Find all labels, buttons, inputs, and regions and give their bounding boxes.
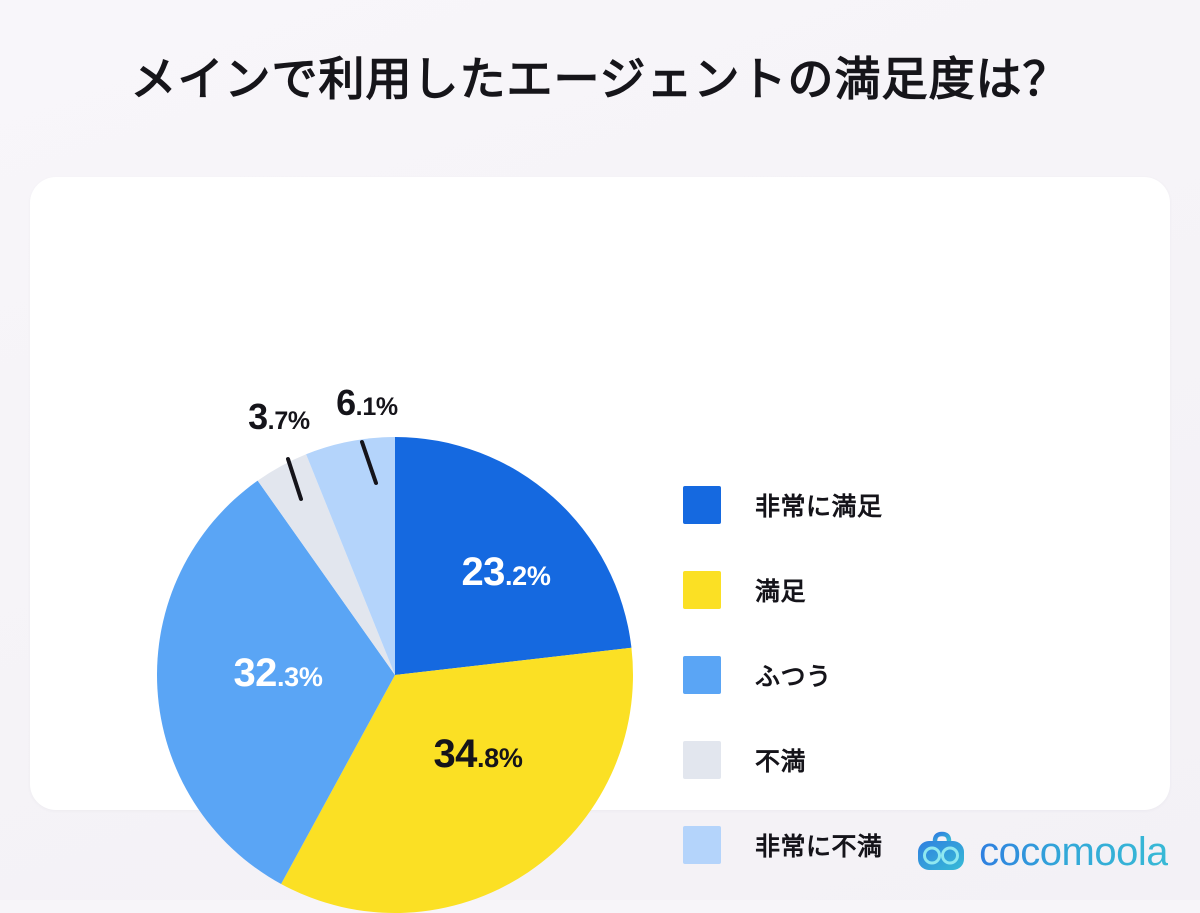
legend-label-futsuu: ふつう xyxy=(755,657,832,693)
pie-chart xyxy=(157,437,633,913)
legend-label-hijou-ni-fuman: 非常に不満 xyxy=(755,827,883,863)
legend-swatch-fuman xyxy=(683,741,721,779)
legend-item-fuman[interactable]: 不満 xyxy=(683,740,1103,780)
legend-swatch-futsuu xyxy=(683,656,721,694)
slice-label-fuman: 3.7% xyxy=(248,399,310,435)
legend-item-hijou-ni-manzoku[interactable]: 非常に満足 xyxy=(683,485,1103,525)
legend-label-fuman: 不満 xyxy=(755,742,806,778)
legend-label-hijou-ni-manzoku: 非常に満足 xyxy=(755,487,883,523)
legend-label-manzoku: 満足 xyxy=(755,572,806,608)
legend-swatch-hijou-ni-fuman xyxy=(683,826,721,864)
page-title: メインで利用したエージェントの満足度は？ xyxy=(0,52,1200,107)
pie-svg xyxy=(157,437,633,913)
page-background: メインで利用したエージェントの満足度は？ 23.2% 34.8% 32.3% 3… xyxy=(0,0,1200,900)
pie-slice[interactable] xyxy=(395,437,631,675)
legend-item-manzoku[interactable]: 満足 xyxy=(683,570,1103,610)
legend-item-futsuu[interactable]: ふつう xyxy=(683,655,1103,695)
legend-swatch-hijou-ni-manzoku xyxy=(683,486,721,524)
chart-legend: 非常に満足 満足 ふつう 不満 非常に不満 xyxy=(683,485,1103,865)
brand-logo: cocomoola xyxy=(915,831,1168,873)
pie-slices xyxy=(157,437,633,913)
slice-label-hijou-ni-fuman: 6.1% xyxy=(336,385,398,421)
legend-swatch-manzoku xyxy=(683,571,721,609)
robot-head-icon xyxy=(915,831,967,873)
chart-card: 23.2% 34.8% 32.3% 3.7% 6.1% 非常に満足 満足 xyxy=(30,177,1170,810)
brand-name: cocomoola xyxy=(979,832,1168,872)
